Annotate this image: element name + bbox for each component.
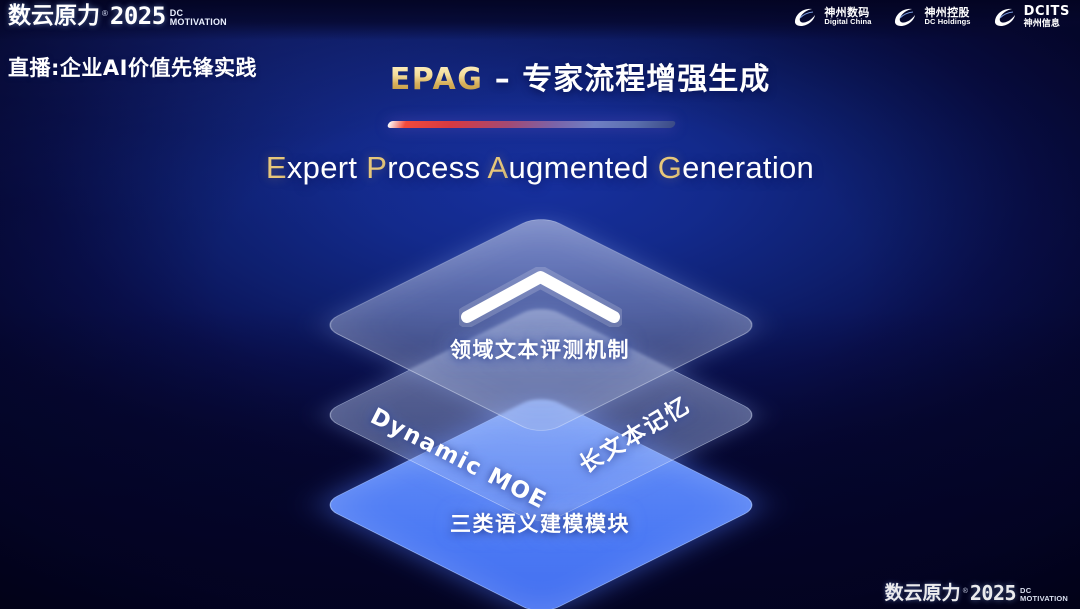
chevron-up-icon — [459, 267, 622, 327]
watermark-registered: ® — [963, 588, 968, 595]
watermark-logo: 数云原力 ® 2025 DC MOTIVATION — [885, 583, 1068, 603]
partner-logo-text: 神州数码 Digital China — [824, 7, 871, 26]
swirl-icon — [793, 6, 819, 28]
event-logo-year: 2025 — [110, 4, 166, 28]
partner-logo-digital-china: 神州数码 Digital China — [793, 6, 871, 28]
title-dash: – — [483, 62, 522, 97]
subtitle-part-7: eneration — [682, 150, 814, 185]
swirl-icon — [893, 6, 919, 28]
event-logo: 数云原力 ® 2025 DC MOTIVATION — [8, 4, 227, 28]
partner-logo-text: DCITS 神州信息 — [1024, 5, 1070, 28]
event-logo-cn: 数云原力 — [8, 5, 100, 28]
subtitle-part-1: xpert — [287, 150, 366, 185]
title-chinese: 专家流程增强生成 — [522, 62, 770, 97]
partner-logo-text: 神州控股 DC Holdings — [924, 7, 970, 26]
watermark-brand-cn: 数云原力 — [885, 584, 961, 603]
title-divider — [387, 121, 677, 128]
registered-mark: ® — [102, 10, 108, 18]
partner-name-cn: 神州信息 — [1024, 19, 1070, 28]
title-acronym: EPAG — [390, 62, 484, 97]
event-logo-motivation-text: MOTIVATION — [170, 18, 227, 27]
watermark-dc-motivation: DC MOTIVATION — [1020, 587, 1068, 602]
watermark-year: 2025 — [970, 583, 1016, 603]
swirl-icon — [993, 6, 1019, 28]
partner-logo-dcits: DCITS 神州信息 — [993, 5, 1070, 28]
event-logo-dc-motivation: DC MOTIVATION — [170, 9, 227, 27]
watermark-motivation-text: MOTIVATION — [1020, 595, 1068, 603]
partner-name-en: Digital China — [824, 18, 871, 26]
subtitle-part-0: E — [266, 150, 287, 185]
partner-name-en-primary: DCITS — [1024, 5, 1070, 19]
partner-logos: 神州数码 Digital China 神州控股 DC Holdings — [793, 5, 1070, 28]
slide-canvas: 数云原力 ® 2025 DC MOTIVATION 直播:企业AI价值先锋实践 … — [0, 0, 1080, 609]
slide-title: EPAG – 专家流程增强生成 — [0, 54, 1080, 98]
partner-name-en: DC Holdings — [924, 18, 970, 26]
partner-logo-dc-holdings: 神州控股 DC Holdings — [893, 6, 970, 28]
